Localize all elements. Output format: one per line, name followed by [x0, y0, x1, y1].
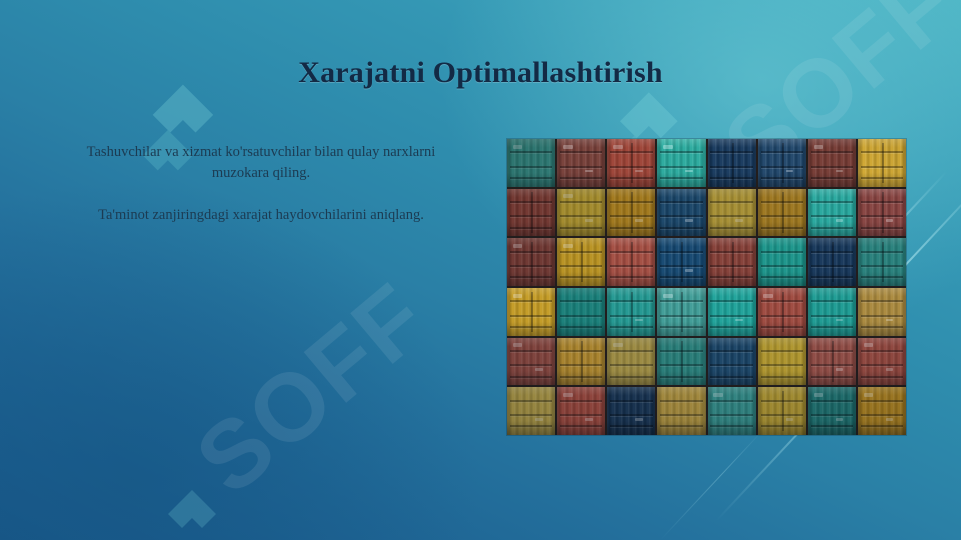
container-rib: [811, 315, 853, 317]
container-label-mark: [685, 269, 693, 272]
container-rib: [660, 227, 702, 229]
shipping-container: [657, 387, 705, 435]
body-paragraph-2: Ta'minot zanjiringdagi xarajat haydovchi…: [62, 205, 460, 226]
container-door-seam: [832, 341, 834, 381]
container-rib: [761, 414, 803, 416]
container-rib: [610, 215, 652, 217]
container-rib: [610, 265, 652, 267]
container-rib: [710, 350, 752, 352]
container-label-mark: [735, 219, 743, 222]
container-rib: [811, 265, 853, 267]
container-rib: [510, 265, 552, 267]
container-label-mark: [635, 319, 643, 322]
container-label-mark: [535, 368, 543, 371]
container-rib: [710, 376, 752, 378]
container-label-mark: [685, 170, 693, 173]
container-door-seam: [531, 242, 533, 282]
container-label-mark: [513, 343, 523, 347]
container-door-seam: [882, 192, 884, 232]
container-rib: [761, 227, 803, 229]
shipping-container: [607, 139, 655, 187]
container-rib: [811, 215, 853, 217]
container-rib: [710, 425, 752, 427]
container-rib: [761, 400, 803, 402]
shipping-container: [607, 238, 655, 286]
container-rib: [761, 151, 803, 153]
container-door-seam: [681, 242, 683, 282]
container-label-mark: [836, 170, 844, 173]
shipping-container: [808, 238, 856, 286]
shipping-container: [808, 139, 856, 187]
container-label-mark: [513, 294, 523, 298]
container-door-seam: [531, 192, 533, 232]
container-rib: [510, 315, 552, 317]
container-rib: [660, 364, 702, 366]
container-rib: [560, 414, 602, 416]
shipping-container: [607, 387, 655, 435]
container-rib: [861, 400, 903, 402]
shipping-container: [708, 189, 756, 237]
container-label-mark: [886, 418, 894, 421]
container-rib: [811, 326, 853, 328]
container-rib: [510, 414, 552, 416]
container-rib: [610, 300, 652, 302]
container-rib: [560, 215, 602, 217]
container-rib: [560, 315, 602, 317]
container-label-mark: [836, 368, 844, 371]
container-rib: [660, 201, 702, 203]
container-rib: [560, 350, 602, 352]
container-rib: [510, 166, 552, 168]
slide-title: Xarajatni Optimallashtirish: [0, 56, 961, 90]
container-label-mark: [814, 393, 824, 397]
container-rib: [510, 300, 552, 302]
container-rib: [761, 215, 803, 217]
container-rib: [610, 376, 652, 378]
container-rib: [710, 166, 752, 168]
container-rib: [560, 201, 602, 203]
container-rib: [710, 276, 752, 278]
container-rib: [610, 201, 652, 203]
container-rib: [660, 400, 702, 402]
container-rib: [761, 350, 803, 352]
container-rib: [761, 251, 803, 253]
container-rib: [811, 350, 853, 352]
container-rib: [811, 251, 853, 253]
container-rib: [510, 177, 552, 179]
container-rib: [861, 350, 903, 352]
container-door-seam: [782, 192, 784, 232]
container-rib: [710, 177, 752, 179]
shipping-container: [708, 288, 756, 336]
shipping-container: [507, 338, 555, 386]
shipping-container: [758, 139, 806, 187]
shipping-container: [708, 387, 756, 435]
container-rib: [811, 177, 853, 179]
container-door-seam: [782, 292, 784, 332]
container-door-seam: [631, 242, 633, 282]
shipping-container: [758, 338, 806, 386]
container-label-mark: [836, 418, 844, 421]
container-rib: [610, 227, 652, 229]
container-rib: [510, 227, 552, 229]
shipping-container: [607, 189, 655, 237]
container-label-mark: [535, 418, 543, 421]
container-rib: [510, 350, 552, 352]
container-label-mark: [763, 294, 773, 298]
container-rib: [710, 265, 752, 267]
container-rib: [660, 414, 702, 416]
presentation-slide: SOFF SOFF Xarajatni Optimallashtirish Ta…: [0, 0, 961, 540]
container-label-mark: [513, 244, 523, 248]
container-label-mark: [685, 219, 693, 222]
shipping-container: [657, 189, 705, 237]
container-rib: [710, 300, 752, 302]
container-rib: [510, 425, 552, 427]
container-rib: [861, 276, 903, 278]
container-label-mark: [563, 393, 573, 397]
container-rib: [710, 251, 752, 253]
shipping-container: [858, 387, 906, 435]
container-rib: [510, 201, 552, 203]
container-rib: [811, 151, 853, 153]
container-rib: [660, 376, 702, 378]
container-rib: [811, 166, 853, 168]
shipping-container: [657, 139, 705, 187]
container-rib: [861, 215, 903, 217]
container-label-mark: [585, 219, 593, 222]
container-rib: [811, 276, 853, 278]
container-rib: [610, 315, 652, 317]
container-door-seam: [581, 341, 583, 381]
container-label-mark: [513, 145, 523, 149]
container-rib: [811, 425, 853, 427]
container-rib: [610, 326, 652, 328]
body-paragraph-1: Tashuvchilar va xizmat ko'rsatuvchilar b…: [62, 142, 460, 184]
container-rib: [861, 300, 903, 302]
container-label-mark: [635, 418, 643, 421]
container-door-seam: [631, 143, 633, 183]
container-rib: [761, 300, 803, 302]
container-rib: [761, 265, 803, 267]
container-label-mark: [886, 219, 894, 222]
container-rib: [610, 177, 652, 179]
container-rib: [610, 400, 652, 402]
container-rib: [560, 265, 602, 267]
container-rib: [710, 400, 752, 402]
shipping-container: [657, 288, 705, 336]
container-rib: [811, 300, 853, 302]
container-rib: [811, 227, 853, 229]
container-door-seam: [681, 341, 683, 381]
shipping-container: [708, 238, 756, 286]
container-label-mark: [864, 343, 874, 347]
container-rib: [560, 227, 602, 229]
container-rib: [861, 166, 903, 168]
container-label-mark: [563, 244, 573, 248]
shipping-container: [557, 139, 605, 187]
container-rib: [761, 166, 803, 168]
container-door-seam: [782, 391, 784, 431]
container-door-seam: [782, 143, 784, 183]
container-door-seam: [631, 192, 633, 232]
shipping-container: [758, 288, 806, 336]
shipping-container: [507, 288, 555, 336]
shipping-container: [557, 338, 605, 386]
container-label-mark: [563, 145, 573, 149]
shipping-containers-image: [507, 139, 906, 435]
container-label-mark: [663, 294, 673, 298]
container-rib: [811, 364, 853, 366]
container-rib: [560, 166, 602, 168]
container-rib: [710, 201, 752, 203]
container-rib: [761, 315, 803, 317]
container-rib: [710, 151, 752, 153]
container-rib: [761, 201, 803, 203]
shipping-container: [607, 338, 655, 386]
container-rib: [660, 315, 702, 317]
container-label-mark: [864, 393, 874, 397]
container-rib: [761, 326, 803, 328]
container-label-mark: [786, 418, 794, 421]
container-rib: [660, 326, 702, 328]
container-rib: [560, 276, 602, 278]
container-rib: [610, 276, 652, 278]
container-label-mark: [613, 145, 623, 149]
container-rib: [761, 376, 803, 378]
container-rib: [710, 227, 752, 229]
shipping-container: [858, 189, 906, 237]
container-rib: [660, 300, 702, 302]
container-door-seam: [531, 292, 533, 332]
shipping-container: [708, 139, 756, 187]
container-rib: [761, 177, 803, 179]
container-rib: [861, 177, 903, 179]
shipping-container: [657, 338, 705, 386]
container-door-seam: [832, 242, 834, 282]
container-rib: [610, 166, 652, 168]
container-rib: [610, 414, 652, 416]
container-rib: [610, 251, 652, 253]
container-rib: [660, 166, 702, 168]
shipping-container: [858, 139, 906, 187]
container-label-mark: [635, 219, 643, 222]
container-rib: [660, 251, 702, 253]
container-label-mark: [563, 194, 573, 198]
container-rib: [560, 251, 602, 253]
shipping-container: [607, 288, 655, 336]
container-rib: [861, 315, 903, 317]
shipping-container: [808, 387, 856, 435]
container-rib: [510, 215, 552, 217]
container-rib: [560, 425, 602, 427]
container-rib: [660, 276, 702, 278]
container-door-seam: [681, 292, 683, 332]
container-rib: [761, 276, 803, 278]
container-rib: [861, 251, 903, 253]
shipping-container: [858, 288, 906, 336]
slide-body-text: Tashuvchilar va xizmat ko'rsatuvchilar b…: [62, 142, 460, 226]
container-rib: [811, 414, 853, 416]
container-rib: [510, 364, 552, 366]
container-rib: [710, 215, 752, 217]
container-rib: [861, 151, 903, 153]
container-rib: [660, 151, 702, 153]
container-door-seam: [631, 292, 633, 332]
container-rib: [510, 251, 552, 253]
container-rib: [510, 276, 552, 278]
shipping-container: [507, 189, 555, 237]
container-rib: [861, 376, 903, 378]
container-rib: [811, 376, 853, 378]
shipping-container: [557, 238, 605, 286]
container-rib: [610, 350, 652, 352]
container-label-mark: [735, 319, 743, 322]
container-rib: [660, 350, 702, 352]
container-rib: [510, 376, 552, 378]
shipping-container: [808, 338, 856, 386]
container-rib: [710, 414, 752, 416]
container-rib: [560, 300, 602, 302]
container-rib: [610, 425, 652, 427]
container-door-seam: [581, 242, 583, 282]
shipping-container: [557, 387, 605, 435]
container-label-mark: [613, 343, 623, 347]
shipping-container: [557, 288, 605, 336]
container-label-mark: [886, 319, 894, 322]
container-rib: [560, 400, 602, 402]
container-rib: [861, 227, 903, 229]
container-grid: [507, 139, 906, 435]
container-rib: [610, 151, 652, 153]
container-door-seam: [732, 143, 734, 183]
container-rib: [811, 400, 853, 402]
shipping-container: [507, 387, 555, 435]
container-label-mark: [713, 393, 723, 397]
shipping-container: [758, 238, 806, 286]
container-door-seam: [882, 242, 884, 282]
container-label-mark: [886, 368, 894, 371]
container-label-mark: [585, 170, 593, 173]
container-label-mark: [786, 170, 794, 173]
container-rib: [560, 364, 602, 366]
shipping-container: [557, 189, 605, 237]
container-rib: [811, 201, 853, 203]
container-label-mark: [663, 145, 673, 149]
container-rib: [510, 151, 552, 153]
container-rib: [761, 364, 803, 366]
shipping-container: [507, 238, 555, 286]
shipping-container: [858, 338, 906, 386]
shipping-container: [758, 387, 806, 435]
shipping-container: [808, 288, 856, 336]
container-rib: [710, 315, 752, 317]
container-label-mark: [585, 418, 593, 421]
container-rib: [660, 177, 702, 179]
shipping-container: [507, 139, 555, 187]
container-rib: [761, 425, 803, 427]
container-rib: [560, 376, 602, 378]
container-label-mark: [814, 145, 824, 149]
shipping-container: [708, 338, 756, 386]
container-rib: [861, 364, 903, 366]
container-rib: [710, 364, 752, 366]
container-label-mark: [836, 219, 844, 222]
shipping-container: [808, 189, 856, 237]
container-rib: [861, 201, 903, 203]
shipping-container: [657, 238, 705, 286]
container-label-mark: [836, 319, 844, 322]
shipping-container: [858, 238, 906, 286]
shipping-container: [758, 189, 806, 237]
container-rib: [861, 414, 903, 416]
container-rib: [660, 425, 702, 427]
container-rib: [660, 215, 702, 217]
container-rib: [861, 265, 903, 267]
container-rib: [560, 177, 602, 179]
container-rib: [510, 326, 552, 328]
container-rib: [660, 265, 702, 267]
container-rib: [710, 326, 752, 328]
container-door-seam: [882, 143, 884, 183]
container-rib: [861, 425, 903, 427]
container-door-seam: [732, 242, 734, 282]
container-label-mark: [635, 170, 643, 173]
container-rib: [560, 151, 602, 153]
container-rib: [610, 364, 652, 366]
container-rib: [560, 326, 602, 328]
container-rib: [861, 326, 903, 328]
container-rib: [510, 400, 552, 402]
